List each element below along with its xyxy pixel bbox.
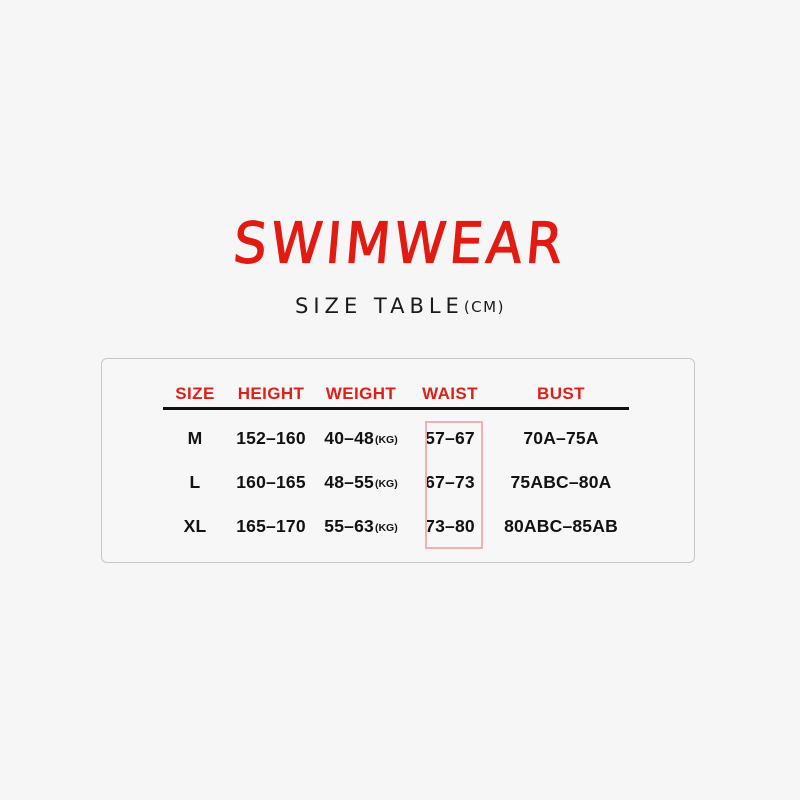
- cell-height: 165–170: [227, 504, 315, 548]
- cell-weight: 40–48(KG): [315, 409, 407, 461]
- size-table: SIZE HEIGHT WEIGHT WAIST BUST M 152–160 …: [163, 381, 629, 548]
- cell-weight: 55–63(KG): [315, 504, 407, 548]
- table-header-row: SIZE HEIGHT WEIGHT WAIST BUST: [163, 381, 629, 409]
- cell-height: 152–160: [227, 409, 315, 461]
- page-subtitle: SIZE TABLE(CM): [0, 294, 800, 319]
- cell-size: XL: [163, 504, 227, 548]
- cell-bust: 70A–75A: [493, 409, 629, 461]
- table-row: XL 165–170 55–63(KG) 73–80 80ABC–85AB: [163, 504, 629, 548]
- size-table-card: SIZE HEIGHT WEIGHT WAIST BUST M 152–160 …: [101, 358, 695, 563]
- title-block: SWIMWEAR SIZE TABLE(CM): [0, 216, 800, 319]
- subtitle-text: SIZE TABLE: [295, 294, 464, 318]
- cell-weight-unit: (KG): [375, 478, 398, 490]
- table-row: L 160–165 48–55(KG) 67–73 75ABC–80A: [163, 460, 629, 504]
- table-row: M 152–160 40–48(KG) 57–67 70A–75A: [163, 409, 629, 461]
- cell-weight-value: 55–63: [324, 516, 374, 536]
- page-title: SWIMWEAR: [0, 214, 800, 274]
- cell-weight-value: 48–55: [324, 472, 374, 492]
- column-header-size: SIZE: [163, 381, 227, 409]
- cell-bust: 80ABC–85AB: [493, 504, 629, 548]
- cell-weight: 48–55(KG): [315, 460, 407, 504]
- column-header-waist: WAIST: [407, 381, 493, 409]
- cell-waist: 67–73: [407, 460, 493, 504]
- cell-height: 160–165: [227, 460, 315, 504]
- column-header-height: HEIGHT: [227, 381, 315, 409]
- cell-weight-unit: (KG): [375, 522, 398, 534]
- column-header-bust: BUST: [493, 381, 629, 409]
- cell-waist: 57–67: [407, 409, 493, 461]
- cell-size: L: [163, 460, 227, 504]
- cell-size: M: [163, 409, 227, 461]
- cell-waist: 73–80: [407, 504, 493, 548]
- column-header-weight: WEIGHT: [315, 381, 407, 409]
- subtitle-unit: (CM): [464, 298, 505, 316]
- cell-weight-unit: (KG): [375, 434, 398, 446]
- cell-bust: 75ABC–80A: [493, 460, 629, 504]
- cell-weight-value: 40–48: [324, 428, 374, 448]
